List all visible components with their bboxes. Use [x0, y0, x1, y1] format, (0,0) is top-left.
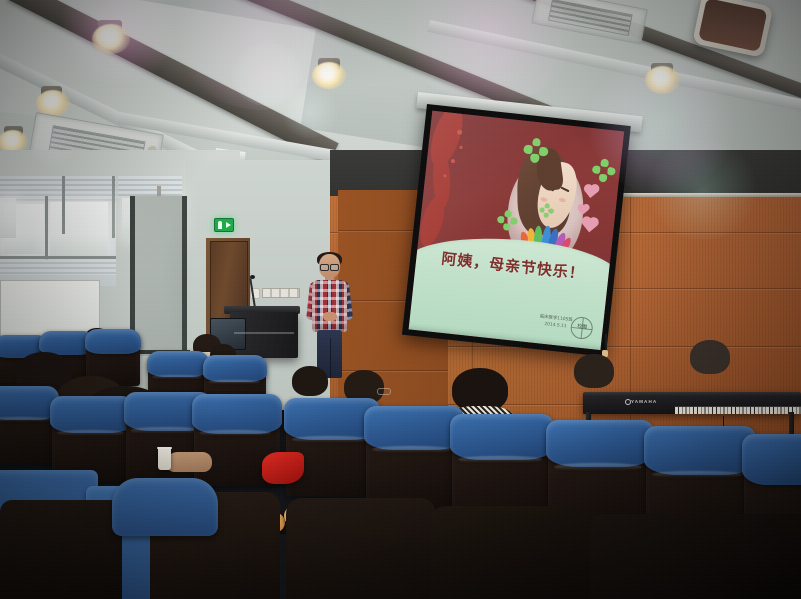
person-head	[574, 354, 614, 388]
illustration-blush	[559, 198, 567, 204]
window-blind-2	[118, 176, 182, 198]
seat-highlight	[57, 430, 124, 436]
slide: 阿姨，母亲节快乐！ 临床医学1105班 2014.5.11 校徽	[409, 111, 625, 351]
eyeglasses-icon	[320, 264, 339, 269]
seat-front-wood-back	[286, 498, 436, 599]
window-post-1	[62, 176, 65, 234]
ribbon-droplet	[457, 129, 463, 135]
audience-person	[690, 340, 730, 374]
slide-clover-icon	[542, 202, 553, 213]
illustration-heart	[583, 218, 597, 232]
seat-front-wood-back	[430, 506, 600, 599]
seat-headrest	[147, 351, 209, 377]
ceiling-speaker-face	[698, 0, 767, 52]
seat-highlight	[208, 380, 260, 384]
seat[interactable]	[452, 416, 552, 520]
seat-headrest	[50, 396, 133, 433]
audience-person	[574, 354, 614, 388]
seat-headrest	[364, 406, 464, 450]
presenter	[310, 254, 350, 380]
window-glass-far	[0, 198, 16, 238]
illustration-eye	[561, 186, 570, 192]
red-bag[interactable]	[262, 452, 304, 484]
window-blind-upper	[0, 176, 116, 204]
ribbon-droplet	[451, 159, 455, 163]
slide-clover-icon	[527, 137, 546, 156]
seat-highlight	[131, 427, 202, 433]
spotlight-4	[312, 62, 346, 89]
ribbon-droplet	[459, 146, 462, 149]
slide-clover-icon	[500, 209, 515, 224]
projection-screen[interactable]: 阿姨，母亲节快乐！ 临床医学1105班 2014.5.11 校徽	[402, 104, 631, 357]
seat-front-wood-back	[0, 500, 122, 599]
wall-column-partition	[134, 196, 186, 356]
lecture-hall-photo: 阿姨，母亲节快乐！ 临床医学1105班 2014.5.11 校徽	[0, 0, 801, 599]
spotlight-5	[645, 66, 680, 94]
piano-brand-label: YAMAHA	[631, 399, 657, 404]
person-head	[292, 366, 328, 396]
seat-headrest	[203, 355, 267, 382]
seat-headrest	[192, 394, 281, 434]
illustration-heart	[585, 186, 598, 199]
presenter-shirt	[312, 280, 347, 332]
seat-front-row[interactable]	[112, 478, 218, 536]
seat-headrest	[450, 414, 554, 460]
seat-headrest	[742, 434, 801, 485]
microphone-head-icon	[250, 275, 255, 279]
seat-highlight	[152, 375, 202, 379]
seat-headrest	[85, 329, 141, 354]
window-post-2	[112, 176, 115, 238]
window-blind-strip	[0, 259, 116, 275]
seat[interactable]	[366, 408, 462, 508]
eyeglasses-icon	[377, 388, 391, 395]
lectern-panel-line	[234, 332, 294, 334]
exit-running-man-icon	[218, 221, 222, 229]
wall-outlet-strip	[262, 288, 300, 298]
piano-keys[interactable]	[675, 406, 801, 414]
exit-arrow-icon	[226, 222, 231, 228]
person-head	[690, 340, 730, 374]
seat-highlight	[372, 446, 453, 453]
presenter-hands	[323, 312, 337, 321]
paper-cup[interactable]	[158, 448, 171, 470]
seat-highlight	[554, 463, 641, 471]
seat-highlight	[458, 456, 542, 463]
audience-person	[292, 366, 328, 396]
screen-surface: 阿姨，母亲节快乐！ 临床医学1105班 2014.5.11 校徽	[409, 111, 625, 351]
window-mullion-v	[45, 196, 48, 260]
spotlight-1	[92, 24, 130, 54]
exit-sign-icon	[214, 218, 234, 232]
seat-front-wood-back	[590, 514, 801, 599]
slide-logo-text: 校徽	[577, 322, 588, 330]
window-area	[0, 176, 116, 286]
illustration-blush	[540, 197, 548, 203]
window-glass-2	[50, 202, 108, 256]
ribbon-stroke	[416, 194, 450, 250]
seat-headrest	[546, 420, 654, 468]
seat[interactable]	[0, 388, 58, 464]
column-edge-right	[182, 196, 187, 356]
audience-hands	[166, 452, 212, 472]
slide-clover-icon	[596, 157, 614, 175]
seat-headrest	[644, 426, 756, 475]
